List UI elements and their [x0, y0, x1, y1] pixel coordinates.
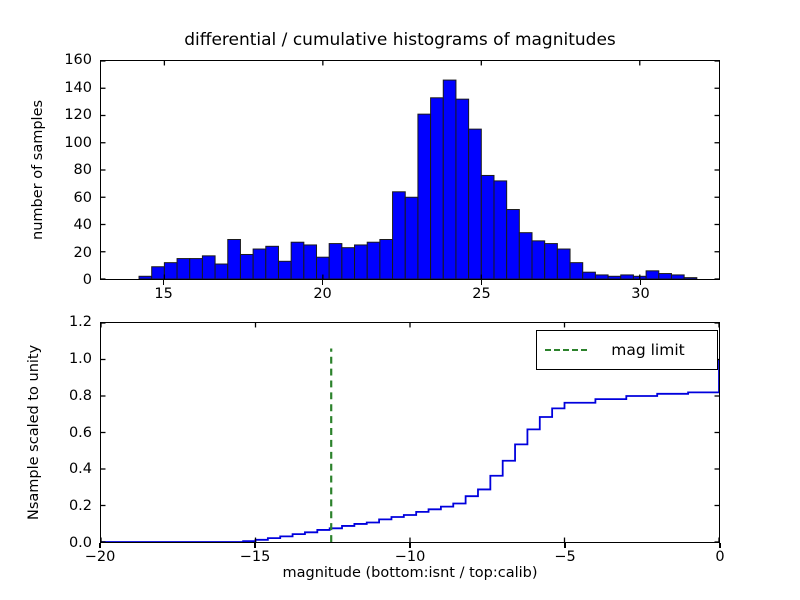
legend-label-mag-limit: mag limit	[593, 341, 709, 359]
ytick-label: 120	[0, 107, 92, 123]
histogram-bar	[240, 254, 253, 279]
histogram-bar	[456, 99, 469, 279]
xtick-mark	[409, 543, 410, 548]
histogram-bar	[519, 233, 532, 279]
xtick-mark	[163, 280, 164, 285]
histogram-bar	[202, 256, 215, 279]
histogram-bar	[595, 275, 608, 279]
histogram-bar	[342, 248, 355, 279]
histogram-bar	[367, 242, 380, 279]
ytick-label: 0.8	[0, 388, 92, 404]
histogram-bar	[228, 239, 241, 279]
figure-title: differential / cumulative histograms of …	[0, 30, 800, 50]
histogram-bar	[190, 259, 203, 279]
ytick-label: 0	[0, 272, 92, 288]
histogram-bar	[507, 210, 520, 279]
histogram-bar	[418, 114, 431, 279]
legend-box: mag limit	[536, 330, 718, 370]
histogram-bar	[177, 259, 190, 279]
cumulative-curve	[101, 359, 719, 542]
histogram-bar	[469, 129, 482, 279]
xtick-label: −20	[85, 549, 116, 565]
histogram-bar	[215, 264, 228, 279]
histogram-bar	[266, 246, 279, 279]
figure-xlabel: magnitude (bottom:isnt / top:calib)	[100, 565, 720, 581]
xtick-label: −5	[554, 549, 575, 565]
histogram-bar	[405, 197, 418, 279]
histogram-bar	[532, 241, 545, 279]
xtick-mark	[640, 280, 641, 285]
histogram-bar	[443, 80, 456, 279]
xtick-mark	[322, 280, 323, 285]
xtick-mark	[719, 543, 720, 548]
histogram-bar	[583, 272, 596, 279]
histogram-bar	[380, 239, 393, 279]
ytick-label: 60	[0, 190, 92, 206]
ytick-label: 1.0	[0, 351, 92, 367]
histogram-bar	[545, 244, 558, 279]
histogram-bar	[278, 261, 291, 279]
ytick-label: 140	[0, 80, 92, 96]
histogram-bar	[557, 249, 570, 279]
xtick-mark	[254, 543, 255, 548]
xtick-label: 30	[631, 286, 649, 302]
ytick-label: 0.6	[0, 425, 92, 441]
xtick-mark	[564, 543, 565, 548]
xtick-label: 0	[715, 549, 724, 565]
xtick-label: 20	[313, 286, 331, 302]
ytick-label: 0.4	[0, 461, 92, 477]
histogram-bar	[608, 276, 621, 279]
top-panel-axes	[100, 60, 720, 280]
ytick-label: 1.2	[0, 314, 92, 330]
histogram-bar	[659, 274, 672, 279]
histogram-plot	[101, 61, 719, 279]
histogram-bar	[164, 263, 177, 279]
histogram-bar	[494, 181, 507, 279]
histogram-bar	[291, 242, 304, 279]
ytick-label: 160	[0, 52, 92, 68]
xtick-mark	[481, 280, 482, 285]
ytick-label: 0.2	[0, 498, 92, 514]
histogram-bar	[355, 245, 368, 279]
histogram-bar	[431, 98, 444, 279]
histogram-bar	[684, 278, 697, 279]
histogram-bar	[304, 245, 317, 279]
histogram-bars	[139, 80, 697, 279]
histogram-bar	[481, 175, 494, 279]
xtick-label: 15	[154, 286, 172, 302]
histogram-bar	[671, 275, 684, 279]
ytick-label: 40	[0, 217, 92, 233]
xtick-label: −15	[240, 549, 271, 565]
ytick-label: 0.0	[0, 535, 92, 551]
histogram-bar	[139, 276, 152, 279]
mag-limit-line-icon	[545, 349, 587, 351]
histogram-bar	[621, 275, 634, 279]
xtick-mark	[99, 543, 100, 548]
ytick-label: 100	[0, 135, 92, 151]
ytick-label: 80	[0, 162, 92, 178]
xtick-label: 25	[472, 286, 490, 302]
histogram-bar	[646, 271, 659, 279]
histogram-bar	[329, 244, 342, 279]
histogram-bar	[393, 192, 406, 279]
figure-canvas: differential / cumulative histograms of …	[0, 0, 800, 600]
xtick-label: −10	[395, 549, 426, 565]
histogram-bar	[253, 249, 266, 279]
histogram-bar	[152, 267, 165, 279]
ytick-label: 20	[0, 245, 92, 261]
histogram-bar	[570, 263, 583, 279]
